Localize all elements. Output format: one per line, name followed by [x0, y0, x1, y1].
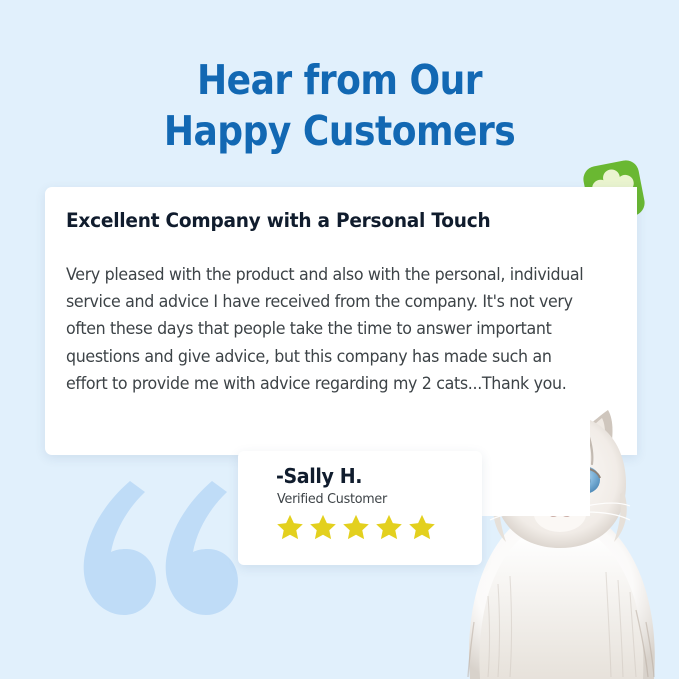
star-icon: [374, 513, 404, 542]
page-title-line1: Hear from Our: [197, 56, 482, 104]
testimonial-title: Excellent Company with a Personal Touch: [66, 209, 490, 232]
testimonial-banner: Hear from Our Happy Customers: [0, 0, 679, 679]
page-title-line2: Happy Customers: [41, 106, 639, 157]
star-rating: [275, 513, 437, 542]
attribution-card: -Sally H. Verified Customer: [238, 451, 482, 565]
star-icon: [341, 513, 371, 542]
quote-mark-decoration: [68, 478, 238, 618]
star-icon: [308, 513, 338, 542]
star-icon: [407, 513, 437, 542]
testimonial-body: Very pleased with the product and also w…: [66, 261, 593, 397]
star-icon: [275, 513, 305, 542]
verified-customer-label: Verified Customer: [277, 492, 387, 507]
page-title: Hear from Our Happy Customers: [41, 55, 639, 157]
reviewer-name: -Sally H.: [276, 464, 362, 488]
